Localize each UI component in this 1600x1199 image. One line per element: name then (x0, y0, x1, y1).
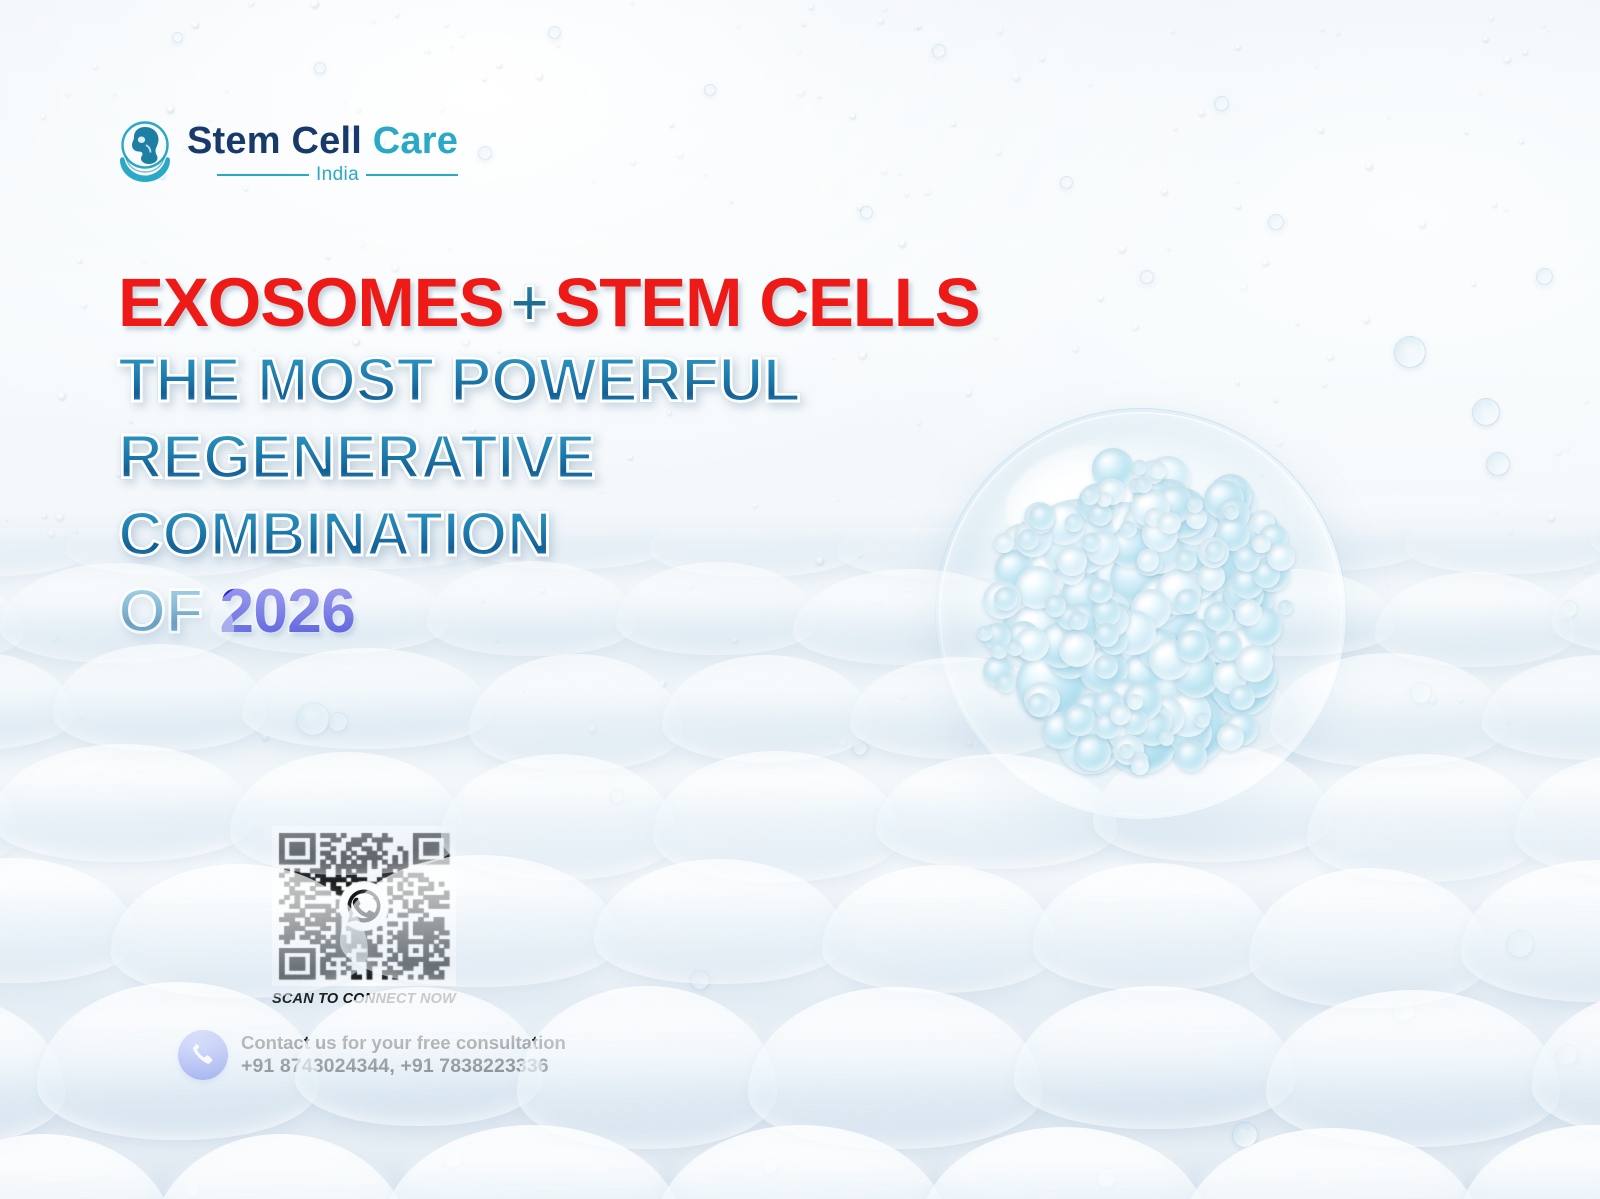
pearl (994, 533, 1014, 553)
texture-ridge (1266, 990, 1560, 1147)
embryo-in-hands-icon (112, 118, 178, 188)
pearl (1059, 631, 1095, 667)
texture-ridge-row (0, 567, 1600, 659)
pearl (1236, 645, 1273, 682)
pearl (1159, 730, 1174, 745)
texture-ridge (0, 1134, 175, 1199)
pearl (1252, 535, 1271, 554)
brand-name-part2: Care (373, 120, 458, 162)
pearl (1018, 529, 1040, 551)
brand-name-part1: Stem Cell (187, 120, 362, 162)
pearl (1175, 740, 1207, 772)
texture-ridge-row (0, 1131, 1600, 1199)
texture-ridge (1249, 868, 1489, 1008)
texture-ridge (382, 1125, 684, 1199)
brand-subtitle-row: India (187, 165, 458, 184)
pearl (1135, 477, 1151, 493)
texture-ridge-row (0, 989, 1600, 1139)
pearl (1204, 602, 1232, 630)
texture-ridge (594, 859, 846, 984)
texture-ridge (230, 752, 464, 876)
headline-line-1: EXOSOMES+STEM CELLS (118, 268, 1188, 337)
texture-ridge (0, 744, 254, 862)
pearl (1229, 685, 1255, 711)
texture-ridge (616, 562, 817, 654)
texture-ridge (662, 655, 871, 762)
pearl (1082, 533, 1101, 552)
pearl (1131, 756, 1149, 774)
pearl (1081, 487, 1098, 504)
pearl (1149, 462, 1166, 479)
pearl (1224, 505, 1239, 520)
texture-ridge (111, 864, 368, 998)
divider-left (217, 174, 309, 176)
pearl (991, 642, 1008, 659)
texture-ridge (1033, 863, 1273, 992)
headline-line-3: REGENERATIVE (118, 420, 1188, 497)
pearl (1088, 579, 1112, 603)
pearl (1120, 521, 1137, 538)
texture-ridge (1461, 860, 1600, 1003)
pearl (997, 674, 1016, 693)
pearl (1057, 546, 1086, 575)
pearl (1158, 512, 1181, 535)
texture-ridge (920, 1127, 1208, 1199)
pearl (1007, 641, 1022, 656)
brand-logo[interactable]: Stem Cell Care India (112, 118, 458, 188)
pearl (1069, 612, 1088, 631)
texture-ridge (37, 982, 319, 1139)
texture-ridge (1458, 1125, 1600, 1199)
texture-ridge (822, 865, 1057, 993)
texture-ridge-row (0, 749, 1600, 870)
pearl (1095, 623, 1119, 647)
pearl (1074, 734, 1111, 771)
texture-ridge (1178, 1128, 1486, 1199)
texture-ridge (1014, 986, 1295, 1129)
pearl (1175, 589, 1200, 614)
texture-ridge (242, 648, 491, 749)
brand-subtitle: India (316, 165, 359, 184)
texture-ridge (654, 1125, 949, 1199)
pearl (1217, 724, 1244, 751)
texture-ridge (340, 855, 619, 987)
headline-exosomes: EXOSOMES (118, 264, 503, 341)
headline-stem-cells: STEM CELLS (554, 264, 979, 341)
headline-plus-sign: + (503, 264, 554, 341)
brand-wordmark: Stem Cell Care India (187, 122, 458, 184)
texture-ridge-row (0, 651, 1600, 758)
poster-canvas: Stem Cell Care India EXOSOMES+STEM CELLS… (0, 0, 1600, 1199)
texture-ridge-row (0, 862, 1600, 998)
texture-ridge (1482, 655, 1600, 760)
pearl (1045, 595, 1066, 616)
pearl (1187, 497, 1202, 512)
texture-ridge (53, 644, 267, 751)
texture-ridge (517, 986, 777, 1149)
divider-right (366, 174, 458, 176)
pearl (1097, 492, 1112, 507)
texture-ridge (427, 561, 637, 656)
texture-ridge (295, 987, 544, 1126)
pearl (994, 587, 1018, 611)
texture-ridge (210, 566, 447, 654)
pearl (1205, 541, 1225, 561)
pearl (1137, 549, 1160, 572)
headline-line-2: THE MOST POWERFUL (118, 343, 1188, 420)
texture-ridge (149, 1134, 412, 1199)
skin-texture-waves (0, 528, 1600, 1199)
pearl (1132, 460, 1147, 475)
pearl (1064, 704, 1096, 736)
pearl (977, 626, 992, 641)
